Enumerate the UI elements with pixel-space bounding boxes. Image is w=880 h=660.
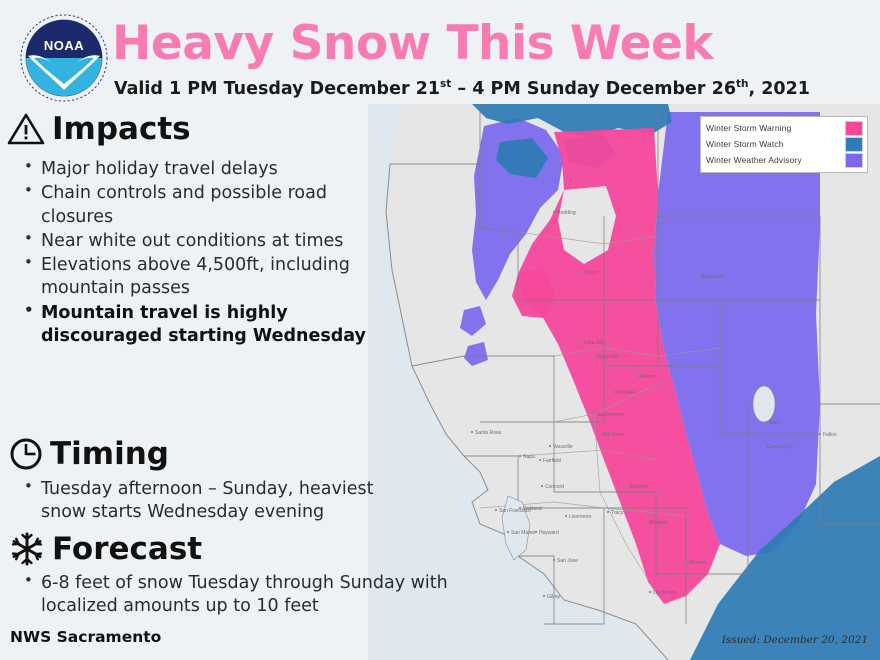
list-item: Tuesday afternoon – Sunday, heaviest sno…	[14, 478, 414, 525]
city-label: Stockton	[629, 484, 649, 490]
city-label: San Mateo	[511, 530, 535, 536]
impacts-section-header: Impacts	[6, 112, 191, 146]
city-dot	[579, 341, 581, 343]
city-label: Los Banos	[653, 590, 677, 596]
city-label: Susanville	[701, 274, 724, 280]
list-item: 6-8 feet of snow Tuesday through Sunday …	[14, 572, 464, 619]
city-dot	[495, 509, 497, 511]
city-dot	[625, 485, 627, 487]
legend-row-advisory: Winter Weather Advisory	[706, 152, 863, 168]
city-dot	[553, 559, 555, 561]
city-dot	[543, 595, 545, 597]
list-item: Chain controls and possible road closure…	[14, 182, 366, 229]
city-dot	[553, 211, 555, 213]
city-dot	[593, 413, 595, 415]
city-dot	[819, 433, 821, 435]
map-legend[interactable]: Winter Storm Warning Winter Storm Watch …	[700, 116, 868, 173]
legend-label-warning: Winter Storm Warning	[706, 123, 791, 133]
legend-row-watch: Winter Storm Watch	[706, 136, 863, 152]
city-label: Vacaville	[553, 444, 573, 450]
noaa-logo: NOAA	[18, 12, 110, 104]
city-label: Fairfield	[543, 458, 561, 464]
city-dot	[649, 591, 651, 593]
city-dot	[535, 531, 537, 533]
city-label: Carson City	[767, 444, 794, 450]
timing-heading: Timing	[50, 439, 169, 470]
warning-triangle-icon	[6, 112, 46, 146]
city-dot	[519, 455, 521, 457]
clock-icon	[8, 436, 44, 472]
city-dot	[593, 355, 595, 357]
list-item: Mountain travel is highly discouraged st…	[14, 302, 366, 349]
list-item: Major holiday travel delays	[14, 158, 366, 181]
city-dot	[507, 531, 509, 533]
city-dot	[697, 275, 699, 277]
forecast-list: 6-8 feet of snow Tuesday through Sunday …	[14, 572, 464, 620]
city-label: Modesto	[649, 520, 668, 526]
city-dot	[611, 391, 613, 393]
valid-prefix: Valid 1 PM Tuesday December 21	[114, 79, 440, 99]
city-dot	[539, 459, 541, 461]
page-title: Heavy Snow This Week	[112, 16, 713, 71]
forecast-section-header: Forecast	[8, 530, 202, 568]
city-label: Sacramento	[597, 412, 624, 418]
legend-swatch-advisory	[845, 153, 863, 168]
timing-section-header: Timing	[8, 436, 169, 472]
city-label: Santa Rosa	[475, 430, 501, 436]
city-label: Livermore	[569, 514, 591, 520]
list-item: Near white out conditions at times	[14, 230, 366, 253]
city-dot	[763, 445, 765, 447]
city-dot	[519, 507, 521, 509]
city-label: Merced	[689, 560, 706, 566]
city-label: Tracy	[611, 510, 624, 516]
city-label: Gilroy	[547, 594, 561, 600]
city-dot	[685, 561, 687, 563]
impacts-heading: Impacts	[52, 114, 191, 145]
city-dot	[635, 375, 637, 377]
city-dot	[471, 431, 473, 433]
legend-row-warning: Winter Storm Warning	[706, 120, 863, 136]
city-label: Reno	[769, 420, 781, 426]
valid-suffix: , 2021	[749, 79, 810, 99]
legend-swatch-watch	[845, 137, 863, 152]
nws-office-credit: NWS Sacramento	[10, 628, 161, 646]
city-label: Fallon	[823, 432, 837, 438]
snowflake-icon	[8, 530, 46, 568]
city-label: Auburn	[639, 374, 655, 380]
list-item: Elevations above 4,500ft, including moun…	[14, 254, 366, 301]
city-label: Yuba City	[583, 340, 605, 346]
city-label: San Jose	[557, 558, 578, 564]
city-label: Redding	[557, 210, 576, 216]
city-dot	[565, 515, 567, 517]
weather-graphic-poster: ReddingChicoYuba CityMarysvilleAuburnRos…	[0, 0, 880, 660]
city-dot	[765, 421, 767, 423]
valid-sup-start: st	[440, 78, 451, 90]
city-dot	[549, 445, 551, 447]
valid-period-text: Valid 1 PM Tuesday December 21st – 4 PM …	[114, 78, 810, 99]
lake-tahoe	[753, 386, 775, 422]
valid-middle: – 4 PM Sunday December 26	[451, 79, 736, 99]
city-label: Concord	[545, 484, 564, 490]
legend-label-advisory: Winter Weather Advisory	[706, 155, 802, 165]
city-label: Chico	[585, 270, 598, 276]
issued-timestamp: Issued: December 20, 2021	[722, 634, 868, 646]
city-dot	[645, 521, 647, 523]
forecast-heading: Forecast	[52, 534, 202, 565]
city-label: Roseville	[615, 390, 636, 396]
city-label: Hayward	[539, 530, 559, 536]
city-label: Marysville	[597, 354, 619, 360]
legend-label-watch: Winter Storm Watch	[706, 139, 784, 149]
city-dot	[541, 485, 543, 487]
city-dot	[599, 433, 601, 435]
timing-list: Tuesday afternoon – Sunday, heaviest sno…	[14, 478, 414, 526]
legend-swatch-warning	[845, 121, 863, 136]
noaa-logo-text: NOAA	[44, 38, 84, 53]
city-label: Elk Grove	[603, 432, 625, 438]
city-label: Oakland	[523, 506, 542, 512]
impacts-list: Major holiday travel delaysChain control…	[14, 158, 366, 349]
city-dot	[581, 271, 583, 273]
valid-sup-end: th	[736, 78, 749, 90]
city-dot	[607, 511, 609, 513]
city-label: Napa	[523, 454, 535, 460]
